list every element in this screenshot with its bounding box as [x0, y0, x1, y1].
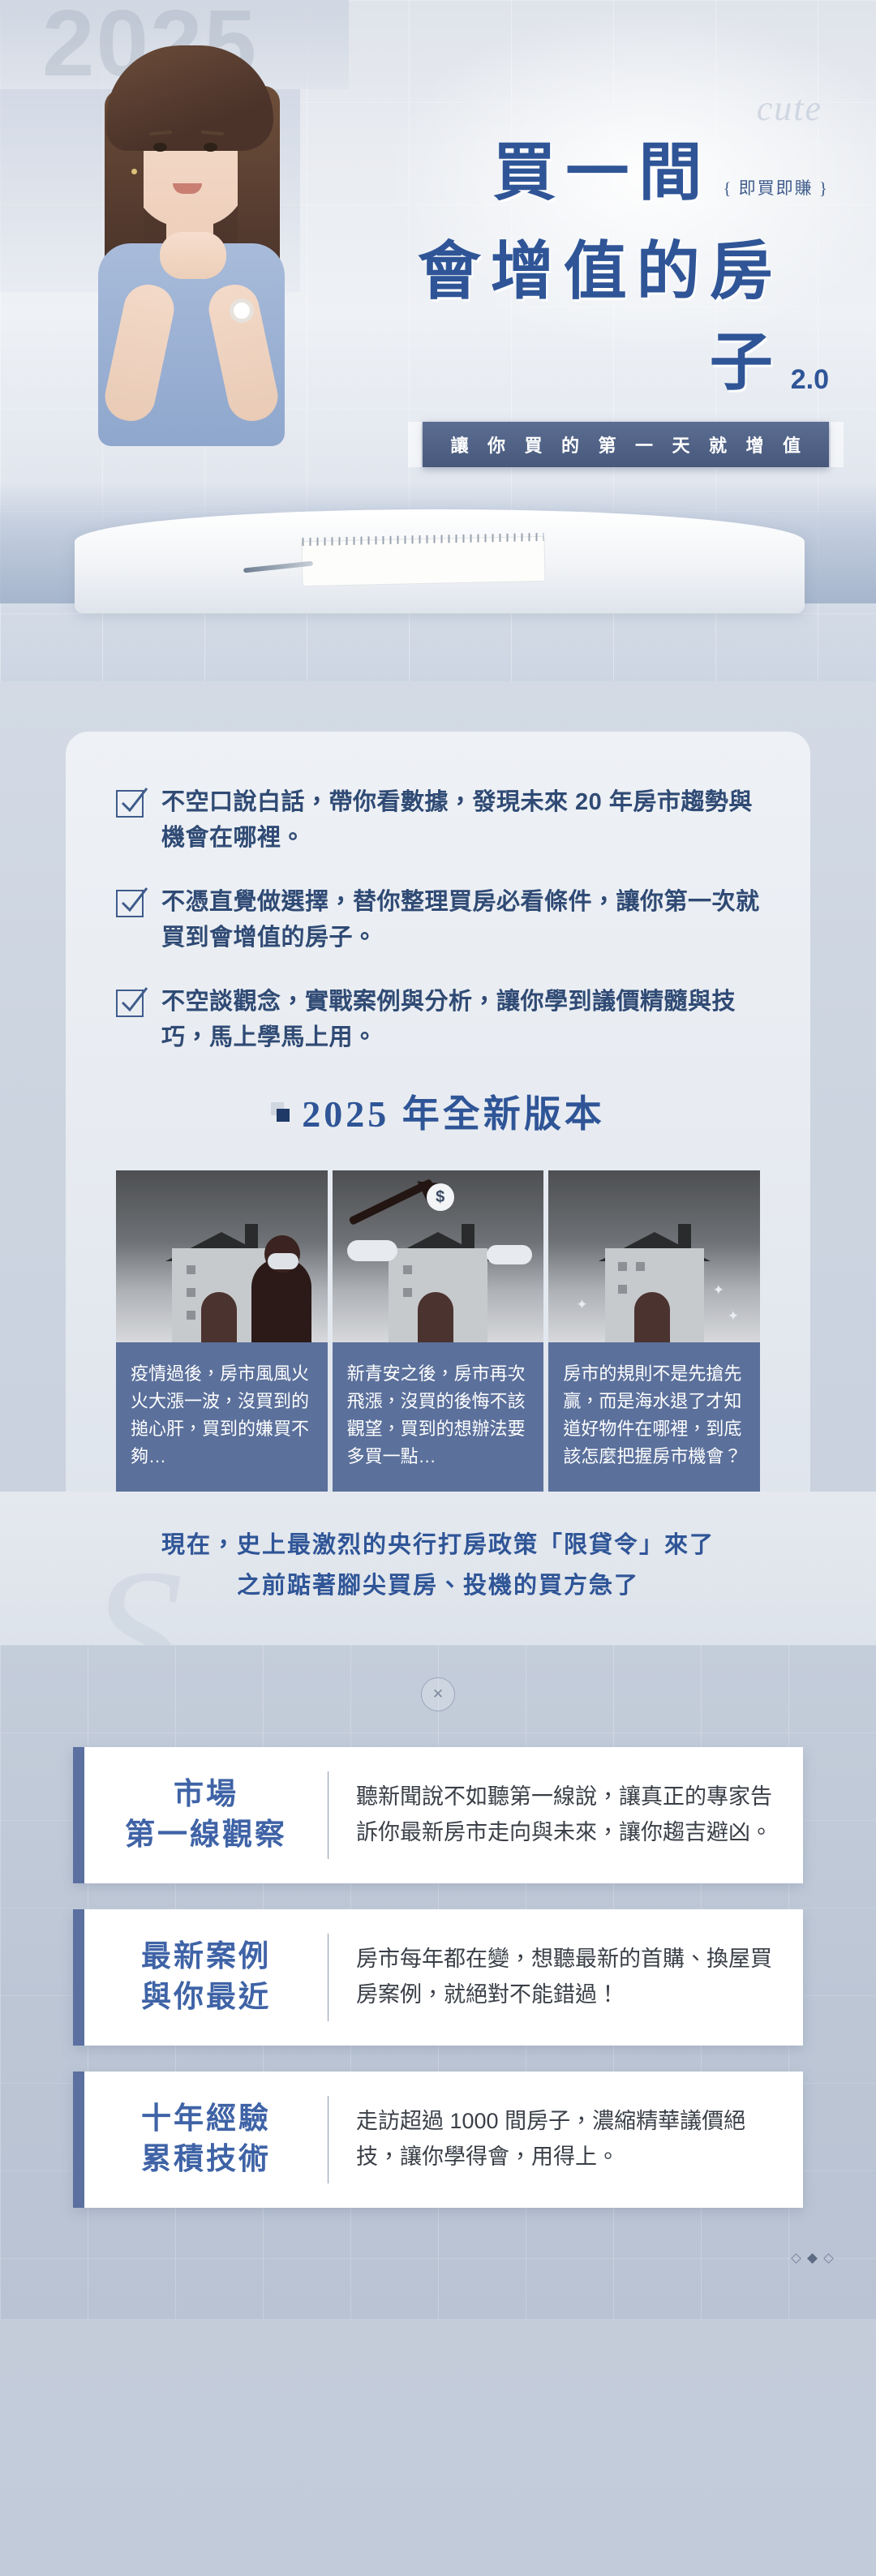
- hero-version-label: 2.0: [791, 364, 829, 402]
- feature-row[interactable]: 十年經驗 累積技術 走訪超過 1000 間房子，濃縮精華議價絕技，讓你學得會，用…: [73, 2072, 803, 2208]
- feature-title-line1: 最新案例: [96, 1937, 316, 1977]
- feature-title-line1: 市場: [96, 1775, 316, 1815]
- benefits-section: S 不空口說白話，帶你看數據，發現未來 20 年房市趨勢與機會在哪裡。 不憑直覺…: [66, 732, 810, 1492]
- feature-title-line2: 與你最近: [96, 1977, 316, 2018]
- feature-row[interactable]: 最新案例 與你最近 房市每年都在變，想聽最新的首購、換屋買房案例，就絕對不能錯過…: [73, 1909, 803, 2046]
- notebook: [301, 536, 545, 586]
- carousel-dot[interactable]: [791, 2253, 801, 2264]
- scenario-card[interactable]: 疫情過後，房市風風火火大漲一波，沒買到的搥心肝，買到的嫌買不夠…: [116, 1170, 328, 1492]
- carousel-dots[interactable]: [0, 2234, 876, 2262]
- presenter-illustration: [45, 41, 345, 560]
- eye-right: [204, 143, 217, 152]
- scenario-cards: 疫情過後，房市風風火火大漲一波，沒買到的搥心肝，買到的嫌買不夠… $ 新青安之後…: [116, 1170, 760, 1492]
- version-heading: 2025 年全新版本: [302, 1084, 605, 1138]
- hero-title-line2: 會增值的房子: [407, 221, 783, 402]
- checkbox-checked-icon: [116, 890, 144, 917]
- eye-left: [153, 143, 167, 152]
- feature-row[interactable]: 市場 第一線觀察 聽新聞說不如聽第一線說，讓真正的專家告訴你最新房市走向與未來，…: [73, 1747, 803, 1883]
- card-text: 新青安之後，房市再次飛漲，沒買的後悔不該觀望，買到的想辦法要多買一點…: [347, 1360, 530, 1470]
- house-mask-icon: [116, 1170, 328, 1342]
- hands: [160, 232, 226, 279]
- list-item: 不空談觀念，實戰案例與分析，讓你學到議價精髓與技巧，馬上學馬上用。: [116, 985, 760, 1055]
- benefit-text: 不憑直覺做選擇，替你整理買房必看條件，讓你第一次就買到會增值的房子。: [161, 885, 760, 955]
- hero-title-line1: 買一間: [492, 122, 711, 213]
- hero-title-block: 買一間 { 即買即賺 } 會增值的房子 2.0 讓 你 買 的 第 一 天 就 …: [407, 122, 829, 467]
- hair-front: [106, 45, 273, 151]
- hero-section: 2025 cute 買一間: [0, 0, 876, 681]
- hero-title-tag: { 即買即賺 }: [723, 175, 829, 213]
- benefit-text: 不空口說白話，帶你看數據，發現未來 20 年房市趨勢與機會在哪裡。: [161, 785, 760, 856]
- feature-title-line1: 十年經驗: [96, 2099, 316, 2140]
- carousel-dot-active[interactable]: [807, 2253, 818, 2264]
- feature-title-line2: 第一線觀察: [96, 1815, 316, 1856]
- feature-title-line2: 累積技術: [96, 2140, 316, 2180]
- list-item: 不憑直覺做選擇，替你整理買房必看條件，讓你第一次就買到會增值的房子。: [116, 885, 760, 955]
- features-section: ✕ 市場 第一線觀察 聽新聞說不如聽第一線說，讓真正的專家告訴你最新房市走向與未…: [0, 1645, 876, 2319]
- card-text: 疫情過後，房市風風火火大漲一波，沒買到的搥心肝，買到的嫌買不夠…: [131, 1360, 313, 1470]
- landing-page: 2025 cute 買一間: [0, 0, 876, 2576]
- house-sparkle-icon: ✦ ✦ ✦: [548, 1170, 760, 1342]
- square-bullet-icon: [271, 1102, 289, 1120]
- carousel-dot[interactable]: [823, 2253, 834, 2264]
- wristwatch-icon: [230, 298, 254, 323]
- list-item: 不空口說白話，帶你看數據，發現未來 20 年房市趨勢與機會在哪裡。: [116, 785, 760, 856]
- scenario-card[interactable]: $ 新青安之後，房市再次飛漲，沒買的後悔不該觀望，買到的想辦法要多買一點…: [333, 1170, 544, 1492]
- hero-ribbon-text: 讓 你 買 的 第 一 天 就 增 值: [423, 422, 829, 467]
- card-text: 房市的規則不是先搶先贏，而是海水退了才知道好物件在哪裡，到底該怎麼把握房市機會？: [563, 1360, 745, 1470]
- feature-description: 聽新聞說不如聽第一線說，讓真正的專家告訴你最新房市走向與未來，讓你趨吉避凶。: [328, 1758, 803, 1871]
- checkbox-checked-icon: [116, 990, 144, 1017]
- version-heading-row: 2025 年全新版本: [116, 1084, 760, 1138]
- house-arrow-up-icon: $: [333, 1170, 544, 1342]
- checkbox-checked-icon: [116, 790, 144, 818]
- scenario-card[interactable]: ✦ ✦ ✦ 房市的規則不是先搶先贏，而是海水退了才知道好物件在哪裡，到底該怎麼把…: [548, 1170, 760, 1492]
- benefit-list: 不空口說白話，帶你看數據，發現未來 20 年房市趨勢與機會在哪裡。 不憑直覺做選…: [116, 785, 760, 1055]
- feature-title: 最新案例 與你最近: [84, 1916, 328, 2039]
- feature-description: 走訪超過 1000 間房子，濃縮精華議價絕技，讓你學得會，用得上。: [328, 2083, 803, 2196]
- benefit-text: 不空談觀念，實戰案例與分析，讓你學到議價精髓與技巧，馬上學馬上用。: [161, 985, 760, 1055]
- feature-description: 房市每年都在變，想聽最新的首購、換屋買房案例，就絕對不能錯過！: [328, 1921, 803, 2033]
- scroll-indicator-icon[interactable]: ✕: [421, 1677, 455, 1711]
- feature-title: 十年經驗 累積技術: [84, 2078, 328, 2201]
- feature-title: 市場 第一線觀察: [84, 1754, 328, 1877]
- earring: [131, 169, 137, 174]
